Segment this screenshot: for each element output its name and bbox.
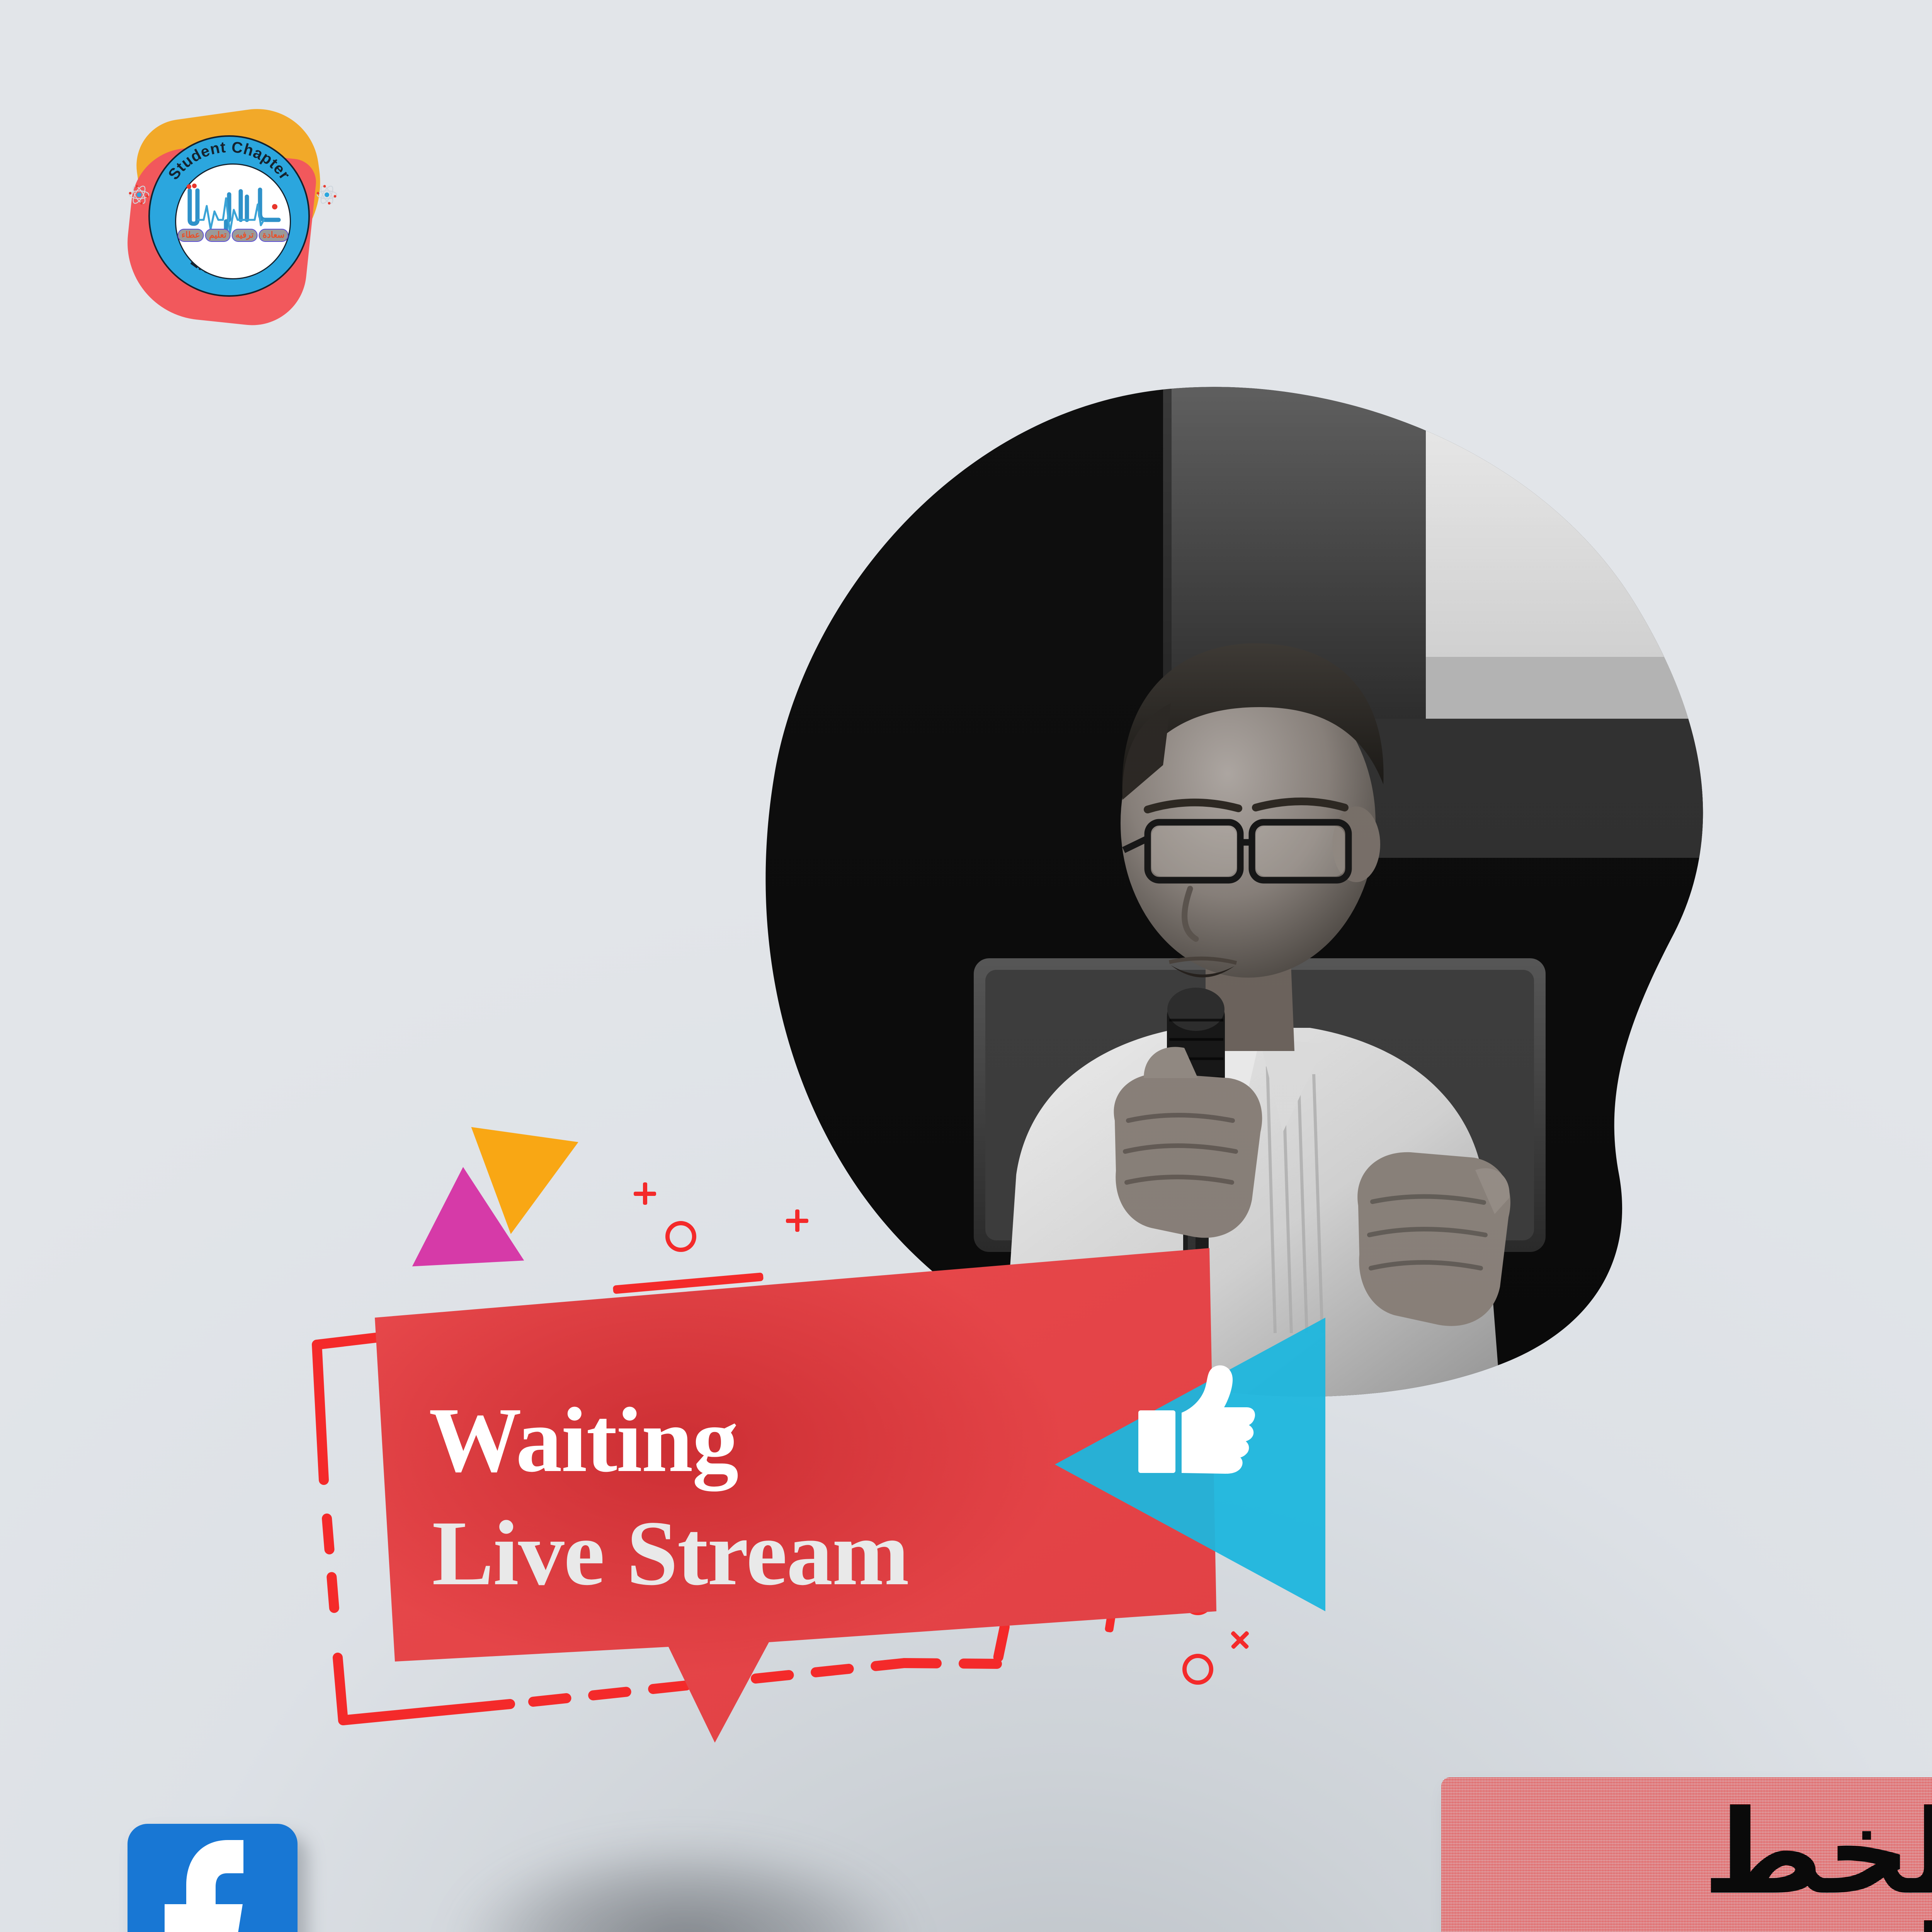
logo-value-tags: سعادة ترفيه تعليم عطاء	[178, 229, 289, 242]
arabic-calligraphy-banner: الخط العربي	[1441, 1777, 1932, 1932]
atom-icon	[128, 184, 150, 206]
calligraphy-text: الخط العربي	[1441, 1777, 1932, 1932]
plus-icon	[634, 1182, 656, 1205]
organization-logo[interactable]: Student Chapter Live 2 Give	[124, 113, 342, 330]
logo-tag-giving: عطاء	[178, 229, 204, 242]
poster-canvas: Student Chapter Live 2 Give	[0, 0, 1932, 1932]
logo-tag-education: تعليم	[205, 229, 230, 242]
bubble-drop-shadow	[456, 1839, 912, 1932]
logo-tag-entertainment: ترفيه	[231, 229, 257, 242]
facebook-icon[interactable]	[128, 1824, 309, 1932]
thumbs-up-icon	[1136, 1364, 1256, 1480]
logo-tag-happiness: سعادة	[259, 229, 288, 242]
atom-icon	[316, 184, 338, 206]
facebook-f-glyph	[128, 1824, 298, 1932]
